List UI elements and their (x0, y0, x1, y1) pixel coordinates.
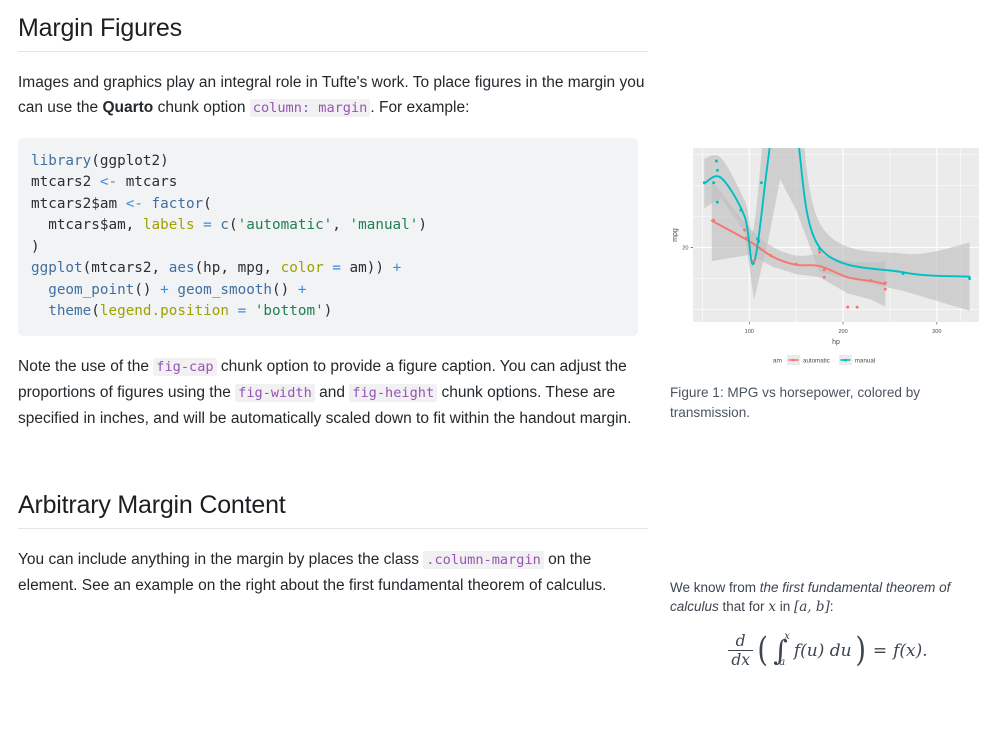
figcap-text-p1: Note the use of the (18, 358, 153, 375)
chart-legend: amautomaticmanual (773, 355, 875, 365)
code-token (246, 303, 255, 319)
code-token: mtcars2$am (31, 196, 126, 212)
code-token: + (160, 282, 169, 298)
code-token (229, 303, 238, 319)
code-token: ) (324, 303, 333, 319)
page-title: Margin Figures (18, 0, 648, 51)
intro-text-part4: . For example: (370, 99, 469, 116)
derivative-fraction: d dx (728, 633, 753, 669)
fig-cap-note-paragraph: Note the use of the fig-cap chunk option… (18, 354, 648, 431)
code-token: <- (100, 174, 117, 190)
margin-note-calculus: We know from the first fundamental theor… (670, 578, 985, 669)
code-token: () (272, 282, 298, 298)
code-token: ( (203, 196, 212, 212)
inline-code-column-margin: column: margin (250, 99, 371, 117)
code-token: (hp, mpg, (195, 260, 281, 276)
margin-note-var-x: x (768, 599, 776, 615)
code-token: (ggplot2) (91, 153, 168, 169)
code-token: c (220, 217, 229, 233)
code-token: + (393, 260, 402, 276)
code-token: ) (31, 239, 40, 255)
code-token (324, 260, 333, 276)
inline-code-fig-width: fig-width (235, 384, 315, 402)
code-token: ( (229, 217, 238, 233)
arbitrary-text-p1: You can include anything in the margin b… (18, 551, 423, 568)
code-token (195, 217, 204, 233)
code-token: aes (169, 260, 195, 276)
math-expression: d dx ( ∫xa f(u) du ) = f(x). (726, 633, 928, 669)
code-token: + (298, 282, 307, 298)
code-token: theme (48, 303, 91, 319)
inline-code-fig-height: fig-height (349, 384, 437, 402)
svg-text:300: 300 (932, 329, 941, 335)
margin-note-p4: : (830, 599, 834, 614)
intro-paragraph-margin-figures: Images and graphics play an integral rol… (18, 70, 648, 121)
code-token: geom_smooth (177, 282, 272, 298)
code-token: labels (143, 217, 195, 233)
margin-note-p2: that for (719, 599, 769, 614)
fraction-numerator: d (733, 633, 749, 650)
ggplot-chart-svg: 10020030020hpmpg amautomaticmanual (670, 140, 988, 370)
svg-text:mpg: mpg (672, 228, 679, 242)
code-token: 'bottom' (255, 303, 324, 319)
inline-code-fig-cap: fig-cap (153, 358, 216, 376)
code-token (31, 303, 48, 319)
code-block-content: library(ggplot2) mtcars2 <- mtcars mtcar… (31, 151, 624, 323)
svg-text:200: 200 (838, 329, 847, 335)
svg-text:100: 100 (745, 329, 754, 335)
code-token: factor (152, 196, 204, 212)
heading-divider (18, 51, 648, 52)
quarto-bold-term: Quarto (102, 99, 153, 116)
margin-note-interval: [a, b] (794, 599, 830, 615)
svg-text:hp: hp (832, 339, 840, 346)
code-token: geom_point (48, 282, 134, 298)
code-token: legend.position (100, 303, 229, 319)
code-token: library (31, 153, 91, 169)
svg-text:automatic: automatic (803, 357, 830, 364)
code-token: mtcars2 (31, 174, 100, 190)
math-formula-ftc: d dx ( ∫xa f(u) du ) = f(x). (670, 633, 985, 669)
main-content-column: Margin Figures Images and graphics play … (18, 0, 648, 598)
section-title-arbitrary-margin-content: Arbitrary Margin Content (18, 477, 648, 528)
margin-figure-mpg-vs-hp: 10020030020hpmpg amautomaticmanual (670, 140, 988, 370)
code-token (143, 196, 152, 212)
figure-caption: Figure 1: MPG vs horsepower, colored by … (670, 383, 960, 422)
section-spacer (18, 431, 648, 477)
code-token: = (203, 217, 212, 233)
margin-note-p3: in (776, 599, 794, 614)
code-token: () (134, 282, 160, 298)
left-paren: ( (757, 637, 768, 664)
svg-text:manual: manual (855, 357, 875, 364)
code-token: ggplot (31, 260, 83, 276)
code-token: <- (126, 196, 143, 212)
inline-code-column-margin-class: .column-margin (423, 551, 544, 569)
formula-rhs: f(x). (893, 641, 928, 661)
equals-sign: = (873, 641, 887, 661)
code-token (31, 282, 48, 298)
integral-upper-limit: x (784, 633, 790, 642)
code-token: mtcars (117, 174, 177, 190)
svg-text:am: am (773, 358, 783, 365)
code-token: color (281, 260, 324, 276)
code-token: (mtcars2, (83, 260, 169, 276)
code-token: = (238, 303, 247, 319)
code-token: 'automatic' (238, 217, 333, 233)
code-token: mtcars$am, (31, 217, 143, 233)
code-token: 'manual' (350, 217, 419, 233)
margin-note-p1: We know from (670, 580, 760, 595)
code-token: , (332, 217, 349, 233)
heading-divider-2 (18, 528, 648, 529)
intro-text-part1: Images and graphics play an integral rol… (18, 74, 563, 91)
fraction-denominator: dx (728, 650, 753, 668)
tufte-document-page: Margin Figures Images and graphics play … (0, 0, 1000, 749)
integral-lower-limit: a (779, 659, 785, 668)
intro-text-part3: chunk option (153, 99, 250, 116)
integrand: f(u) du (794, 641, 852, 661)
code-token: = (332, 260, 341, 276)
svg-text:20: 20 (682, 245, 688, 251)
code-token: am)) (341, 260, 393, 276)
integral-sign: ∫xa (773, 639, 788, 663)
figcap-text-p3: and (315, 384, 349, 401)
right-paren: ) (855, 637, 866, 664)
intro-paragraph-arbitrary-margin: You can include anything in the margin b… (18, 547, 648, 598)
margin-note-text: We know from the first fundamental theor… (670, 578, 985, 617)
code-block-ggplot[interactable]: library(ggplot2) mtcars2 <- mtcars mtcar… (18, 138, 638, 336)
code-token: ( (91, 303, 100, 319)
code-token: ) (418, 217, 427, 233)
